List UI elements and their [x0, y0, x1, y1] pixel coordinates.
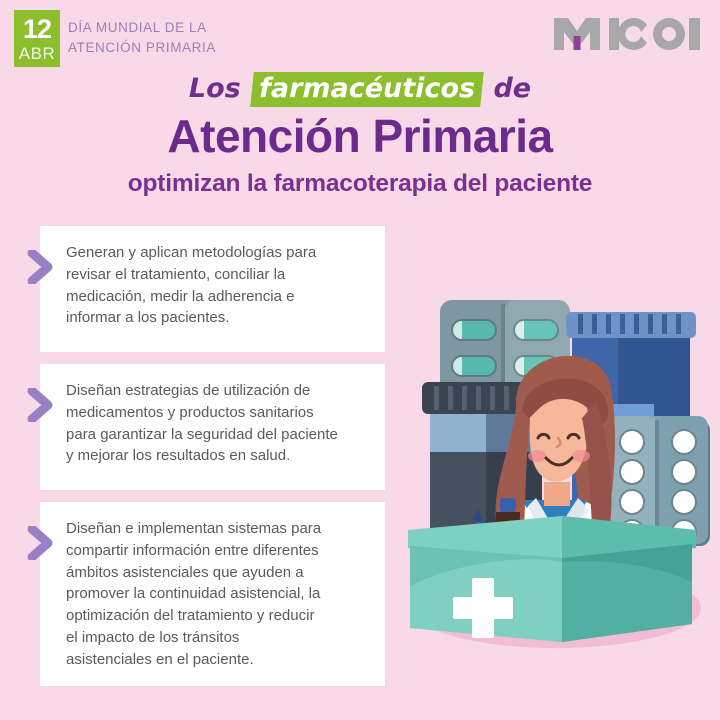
- date-month: ABR: [19, 45, 55, 62]
- kicker-line: Los farmacéuticos de: [0, 72, 720, 107]
- chevron-right-icon: [26, 250, 56, 284]
- kicker-pre: Los: [189, 73, 241, 104]
- date-badge: 12 ABR: [14, 10, 60, 67]
- kicker-post: de: [493, 73, 531, 104]
- kicker-highlight: farmacéuticos: [259, 73, 475, 104]
- pharmacy-counter: [408, 516, 696, 642]
- micof-logo: [552, 14, 700, 52]
- info-card-text: Diseñan estrategias de utilización de me…: [66, 380, 369, 467]
- info-card: Diseñan e implementan sistemas para comp…: [40, 502, 385, 686]
- event-title-line2: ATENCIÓN PRIMARIA: [68, 38, 328, 58]
- pharmacy-illustration: [396, 286, 720, 666]
- chevron-right-icon: [26, 388, 56, 422]
- info-card-text: Generan y aplican metodologías para revi…: [66, 242, 369, 329]
- info-card-text: Diseñan e implementan sistemas para comp…: [66, 518, 369, 670]
- info-card: Generan y aplican metodologías para revi…: [40, 226, 385, 352]
- event-title: DÍA MUNDIAL DE LA ATENCIÓN PRIMARIA: [68, 18, 328, 57]
- page-title: Atención Primaria: [0, 113, 720, 159]
- date-day: 12: [23, 16, 51, 43]
- page-subtitle: optimizan la farmacoterapia del paciente: [0, 170, 720, 198]
- chevron-right-icon: [26, 526, 56, 560]
- event-title-line1: DÍA MUNDIAL DE LA: [68, 18, 328, 38]
- kicker-highlight-box: farmacéuticos: [250, 72, 484, 107]
- poster-canvas: 12 ABR DÍA MUNDIAL DE LA ATENCIÓN PRIMAR…: [0, 0, 720, 720]
- info-card: Diseñan estrategias de utilización de me…: [40, 364, 385, 490]
